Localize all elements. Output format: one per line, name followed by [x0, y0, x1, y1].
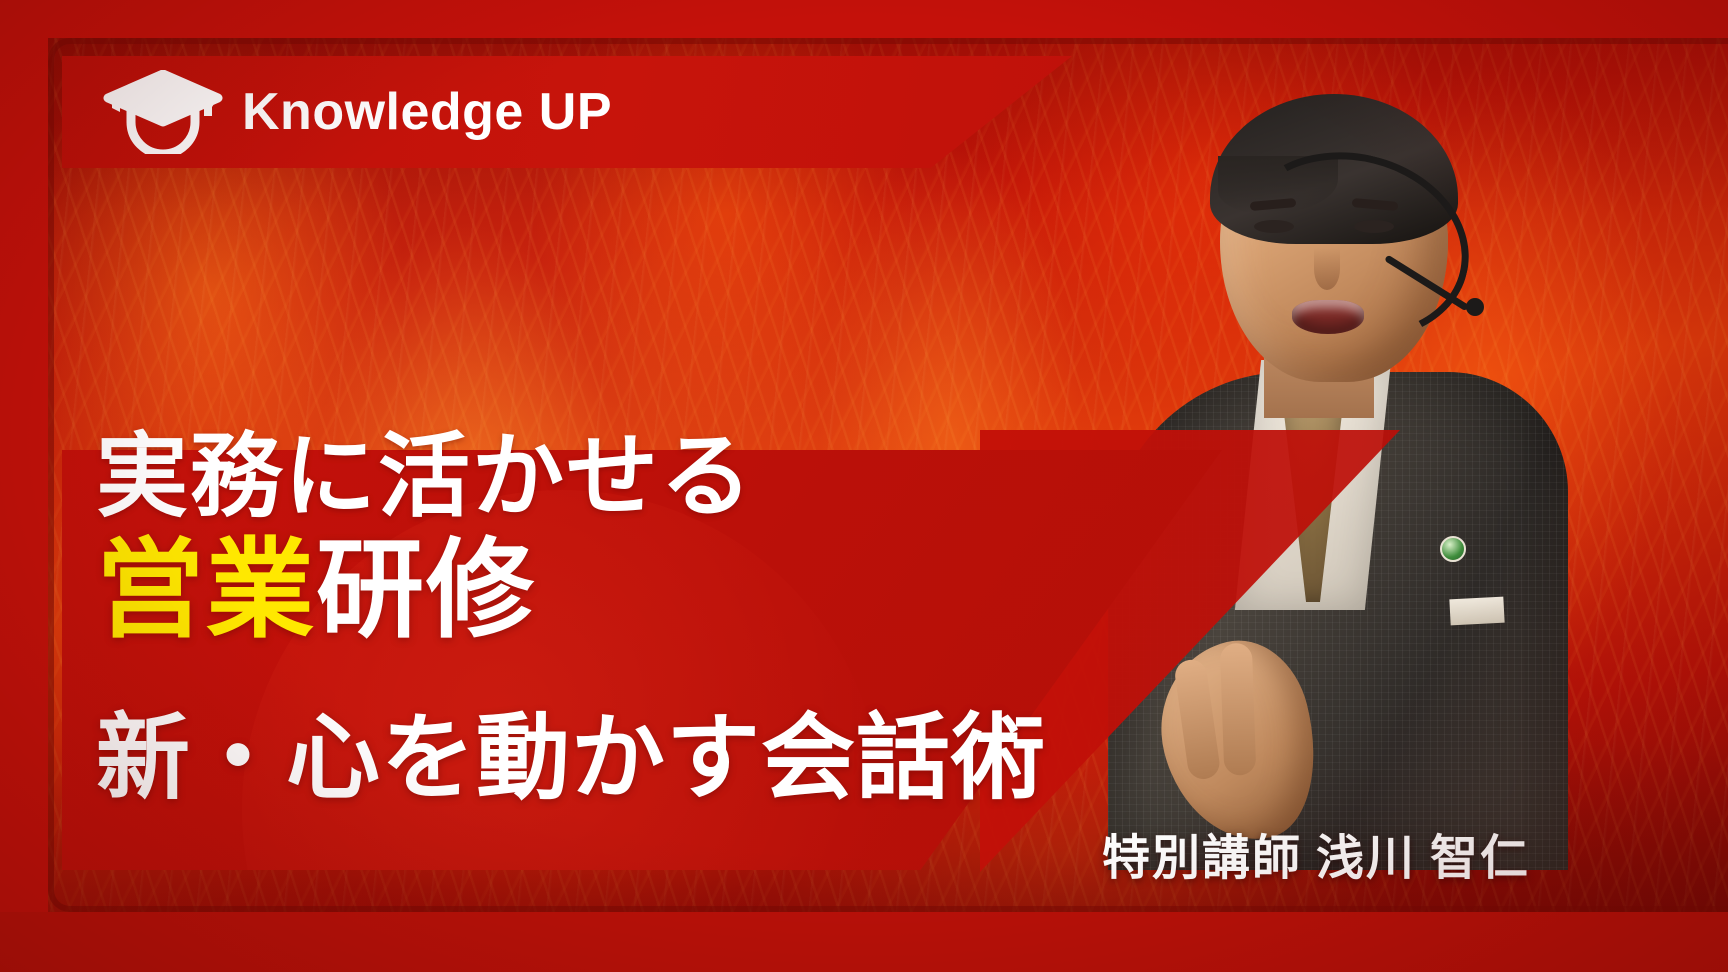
promo-banner: Knowledge UP 実務に活かせる 営業研修 新・心を動かす会話術 特別講… [0, 0, 1728, 972]
plate-edge-bottom [0, 912, 1728, 972]
graduation-cap-arrow-icon [100, 70, 226, 154]
headline-line-1: 実務に活かせる [96, 428, 1116, 527]
headline-line-2: 営業研修 [96, 533, 1116, 652]
headline-highlight: 営業 [96, 532, 316, 651]
speaker-lapel-pin [1440, 536, 1466, 562]
headline-line-2-rest: 研修 [316, 532, 536, 651]
brand-header-band: Knowledge UP [62, 56, 1072, 168]
instructor-credit: 特別講師 浅川 智仁 [1102, 818, 1530, 888]
speaker-pocket-square [1449, 597, 1504, 626]
headline-line-3: 新・心を動かす会話術 [96, 708, 1116, 811]
headset-microphone-tip-icon [1466, 298, 1484, 316]
headline-text-block: 実務に活かせる 営業研修 新・心を動かす会話術 [96, 428, 1116, 812]
brand-name: Knowledge UP [242, 82, 612, 142]
plate-edge-left [0, 0, 48, 972]
plate-edge-top [0, 0, 1728, 38]
